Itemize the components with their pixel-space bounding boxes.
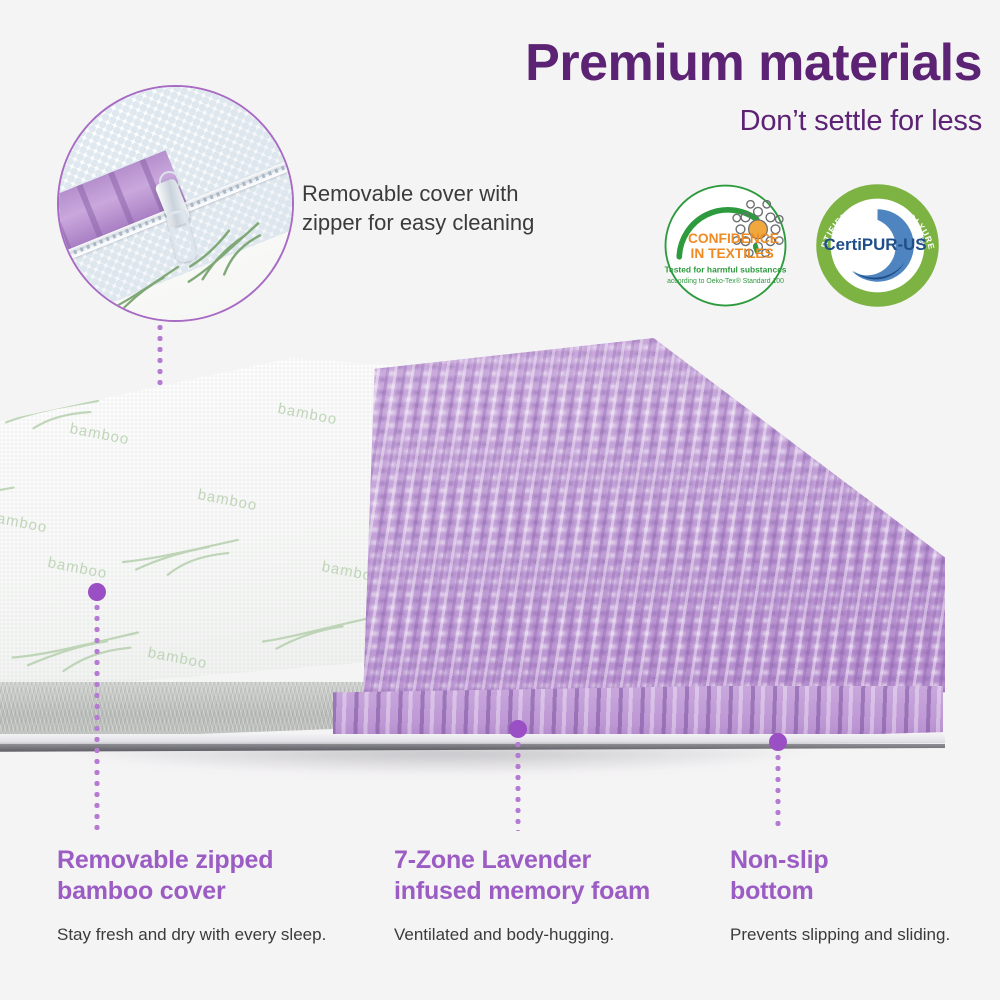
page-title: Premium materials [362, 36, 982, 91]
bamboo-leaf-icon [258, 603, 372, 660]
feature-bamboo-cover: Removable zipped bamboo cover Stay fresh… [57, 845, 377, 946]
inset-artwork [59, 87, 292, 320]
certipur-us-badge: CONTAINS CERTIFIED FLEXIBLE POLYURETHANE… [815, 183, 940, 308]
feature-title-line2: infused memory foam [394, 876, 714, 907]
feature-description: Stay fresh and dry with every sleep. [57, 924, 377, 946]
callout-dot-bamboo-cover [88, 583, 106, 601]
page-subtitle: Don’t settle for less [362, 105, 982, 138]
floor-shadow [0, 748, 950, 808]
foam-ridge-texture [315, 328, 955, 733]
oeko-tex-line2: IN TEXTILES [691, 246, 774, 261]
oeko-tex-line1: CONFIDENCE [688, 231, 779, 246]
feature-title: 7-Zone Lavender infused memory foam [394, 845, 714, 906]
feature-title-line1: Removable zipped [57, 845, 377, 876]
feature-title-line1: 7-Zone Lavender [394, 845, 714, 876]
certipur-wordmark: CertiPUR-US [823, 235, 926, 254]
callout-dot-non-slip [769, 733, 787, 751]
headline-block: Premium materials Don’t settle for less [362, 36, 982, 138]
mattress-topper-image: bamboo bamboo bamboo bamboo bamboo bambo… [0, 330, 1000, 760]
feature-title-line2: bottom [730, 876, 995, 907]
feature-description: Ventilated and body-hugging. [394, 924, 714, 946]
feature-non-slip: Non-slip bottom Prevents slipping and sl… [730, 845, 995, 946]
oeko-tex-line3: Tested for harmful substances [665, 264, 787, 274]
certification-badges: CONFIDENCE IN TEXTILES Tested for harmfu… [663, 183, 973, 308]
callout-dot-memory-foam [509, 720, 527, 738]
feature-title: Non-slip bottom [730, 845, 995, 906]
leader-line-bamboo-cover [95, 602, 100, 830]
oeko-tex-badge: CONFIDENCE IN TEXTILES Tested for harmfu… [663, 183, 788, 308]
feature-memory-foam: 7-Zone Lavender infused memory foam Vent… [394, 845, 714, 946]
feature-description: Prevents slipping and sliding. [730, 924, 995, 946]
egg-crate-foam-top [325, 338, 945, 723]
oeko-tex-line4: according to Oeko-Tex® Standard 100 [667, 277, 784, 285]
product-feature-graphic: Premium materials Don’t settle for less [0, 0, 1000, 1000]
certipur-registered-mark: ® [920, 236, 926, 245]
feature-title: Removable zipped bamboo cover [57, 845, 377, 906]
feature-title-line2: bamboo cover [57, 876, 377, 907]
inset-callout-text: Removable cover with zipper for easy cle… [302, 180, 582, 237]
leader-line-non-slip [776, 752, 781, 830]
leader-line-memory-foam [516, 739, 521, 831]
zipper-closeup-inset [57, 85, 294, 322]
feature-title-line1: Non-slip [730, 845, 995, 876]
